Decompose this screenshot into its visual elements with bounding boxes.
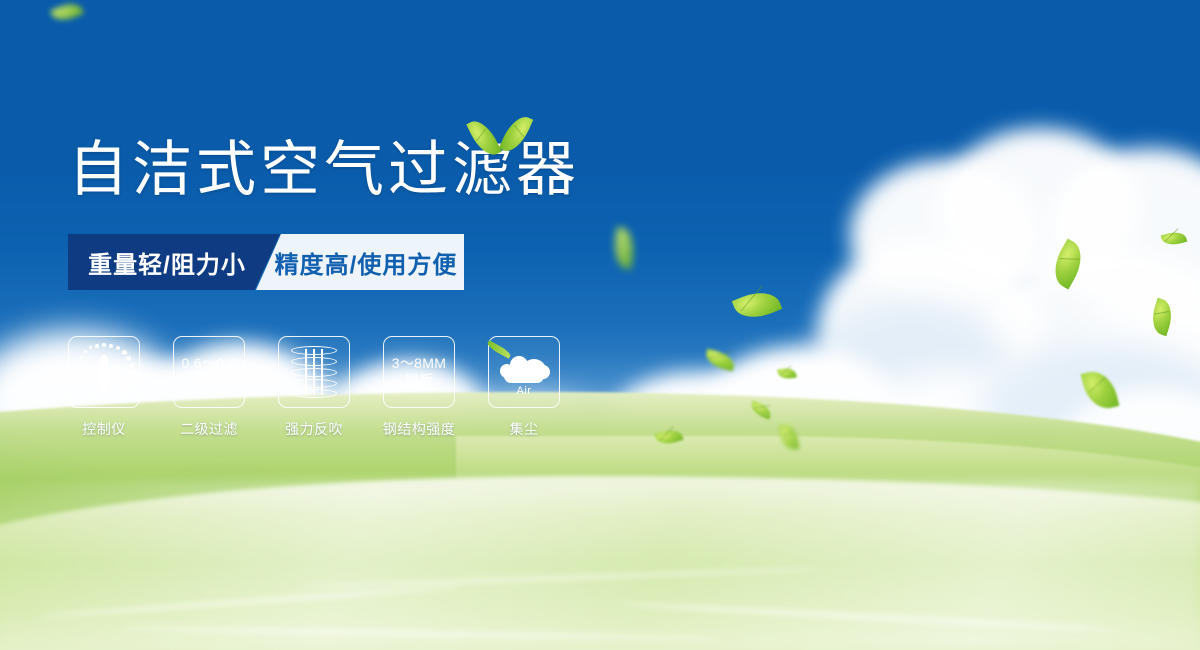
sprout-leaf-left bbox=[466, 116, 502, 161]
feature-two-stage-filter[interactable]: 0.6～0.8 MPA 二级过滤 bbox=[173, 336, 245, 439]
pressure-text-icon: 0.6～0.8 MPA bbox=[181, 355, 236, 390]
subtitle-bar: 重量轻/阻力小 精度高/使用方便 bbox=[68, 234, 464, 290]
feature-icon-box: 0.6～0.8 MPA bbox=[173, 336, 245, 408]
leaf-streak bbox=[486, 340, 512, 358]
feature-label: 控制仪 bbox=[82, 419, 126, 439]
dial-needle bbox=[100, 355, 108, 393]
filter-stack-icon bbox=[291, 346, 337, 398]
feature-icon-box: 3～8MM 钢板 bbox=[383, 336, 455, 408]
feature-icon-box bbox=[278, 336, 350, 408]
feature-icon-row: NO OFF 控制仪 0.6～0.8 MPA 二级过滤 bbox=[68, 336, 560, 439]
sprout-leaves-decoration bbox=[472, 112, 542, 168]
feature-steel-strength[interactable]: 3～8MM 钢板 钢结构强度 bbox=[383, 336, 455, 439]
feature-label: 钢结构强度 bbox=[383, 419, 456, 439]
subtitle-left-panel: 重量轻/阻力小 bbox=[68, 234, 280, 290]
feature-label: 二级过滤 bbox=[180, 419, 238, 439]
feature-icon-box: NO OFF bbox=[68, 336, 140, 408]
cloud-air-icon: Air bbox=[496, 348, 552, 396]
subtitle-right-text: 精度高/使用方便 bbox=[275, 245, 458, 280]
hero-banner: 自洁式空气过滤器 重量轻/阻力小 精度高/使用方便 bbox=[0, 0, 1200, 650]
dial-label-off: OFF bbox=[121, 389, 133, 395]
pressure-value: 0.6～0.8 bbox=[181, 355, 236, 371]
subtitle-right-panel: 精度高/使用方便 bbox=[256, 234, 464, 290]
dial-label-no: NO bbox=[74, 365, 83, 371]
dial-icon: NO OFF bbox=[75, 343, 133, 401]
plate-thickness: 3～8MM bbox=[392, 355, 446, 371]
sprout-leaf-right bbox=[499, 112, 534, 157]
subtitle-left-text: 重量轻/阻力小 bbox=[88, 245, 246, 280]
feature-icon-box: Air bbox=[488, 336, 560, 408]
feature-dust-collection[interactable]: Air 集尘 bbox=[488, 336, 560, 439]
feature-control-panel[interactable]: NO OFF 控制仪 bbox=[68, 336, 140, 439]
pressure-unit: MPA bbox=[181, 372, 236, 390]
air-label: Air bbox=[496, 385, 552, 397]
plate-material: 钢板 bbox=[392, 372, 446, 390]
feature-label: 集尘 bbox=[510, 419, 539, 439]
feature-label: 强力反吹 bbox=[285, 419, 343, 439]
feature-strong-backblow[interactable]: 强力反吹 bbox=[278, 336, 350, 439]
plate-text-icon: 3～8MM 钢板 bbox=[392, 355, 446, 390]
